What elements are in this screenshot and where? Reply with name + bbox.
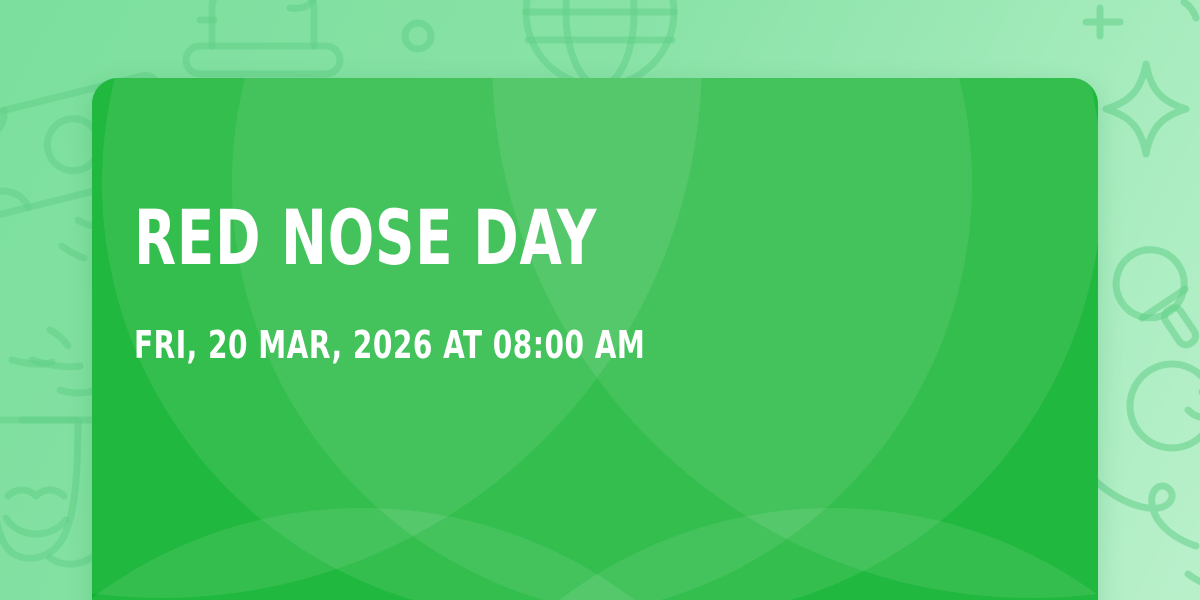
confetti-icon: [1080, 0, 1200, 50]
sparkle-icon: [1104, 56, 1194, 166]
microphone-icon: [1116, 230, 1200, 360]
event-banner: RED NOSE DAY FRI, 20 MAR, 2026 AT 08:00 …: [0, 0, 1200, 600]
balloon-icon: [1124, 356, 1200, 486]
confetti-icon: [6, 330, 96, 450]
event-card[interactable]: RED NOSE DAY FRI, 20 MAR, 2026 AT 08:00 …: [92, 78, 1098, 600]
event-date: FRI, 20 MAR, 2026 AT 08:00 AM: [134, 326, 892, 364]
ring-icon: [396, 14, 440, 58]
event-details: RED NOSE DAY FRI, 20 MAR, 2026 AT 08:00 …: [134, 200, 1058, 364]
event-title: RED NOSE DAY: [134, 200, 873, 276]
cake-icon: [178, 0, 348, 84]
streamer-icon: [1090, 470, 1200, 600]
